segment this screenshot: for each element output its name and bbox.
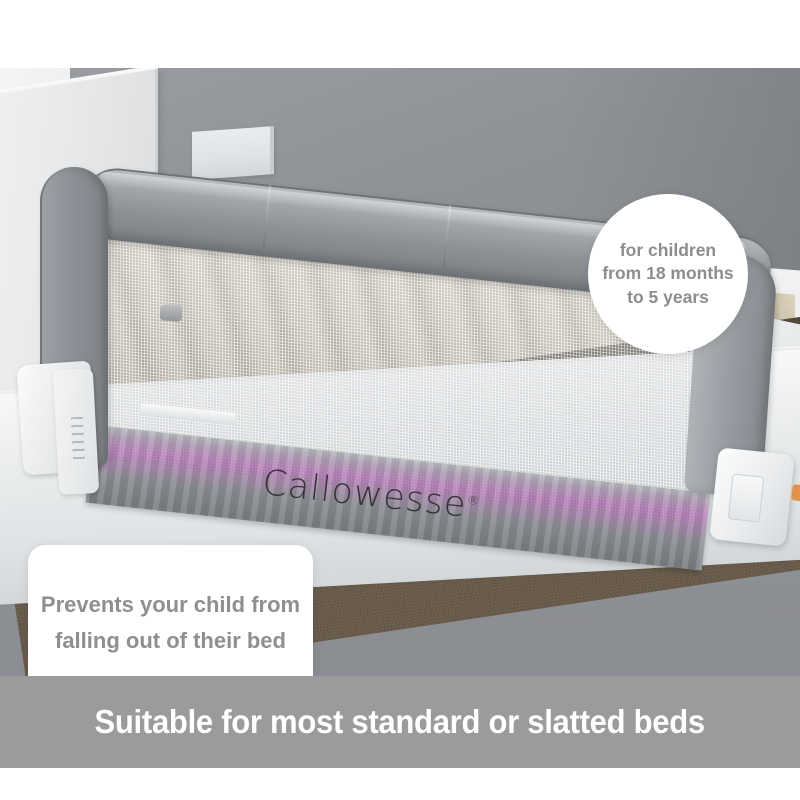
age-range-badge: for children from 18 months to 5 years — [588, 194, 748, 354]
right-bracket-slot — [728, 473, 765, 522]
left-bracket-height-marks — [71, 417, 85, 464]
benefit-callout-text: Prevents your child from falling out of … — [28, 587, 313, 658]
slat-clip — [159, 304, 182, 321]
age-range-badge-text: for children from 18 months to 5 years — [588, 239, 748, 309]
registered-trademark-mark: ® — [466, 493, 480, 508]
benefit-callout: Prevents your child from falling out of … — [28, 545, 313, 676]
bottom-white-strip — [0, 768, 800, 800]
product-image-canvas: Callowesse® for children from 18 months … — [0, 0, 800, 800]
top-white-strip — [0, 0, 800, 68]
compatibility-banner: Suitable for most standard or slatted be… — [0, 676, 800, 768]
orange-release-tab — [791, 484, 800, 502]
compatibility-banner-text: Suitable for most standard or slatted be… — [95, 703, 705, 741]
product-photo: Callowesse® for children from 18 months … — [0, 68, 800, 676]
